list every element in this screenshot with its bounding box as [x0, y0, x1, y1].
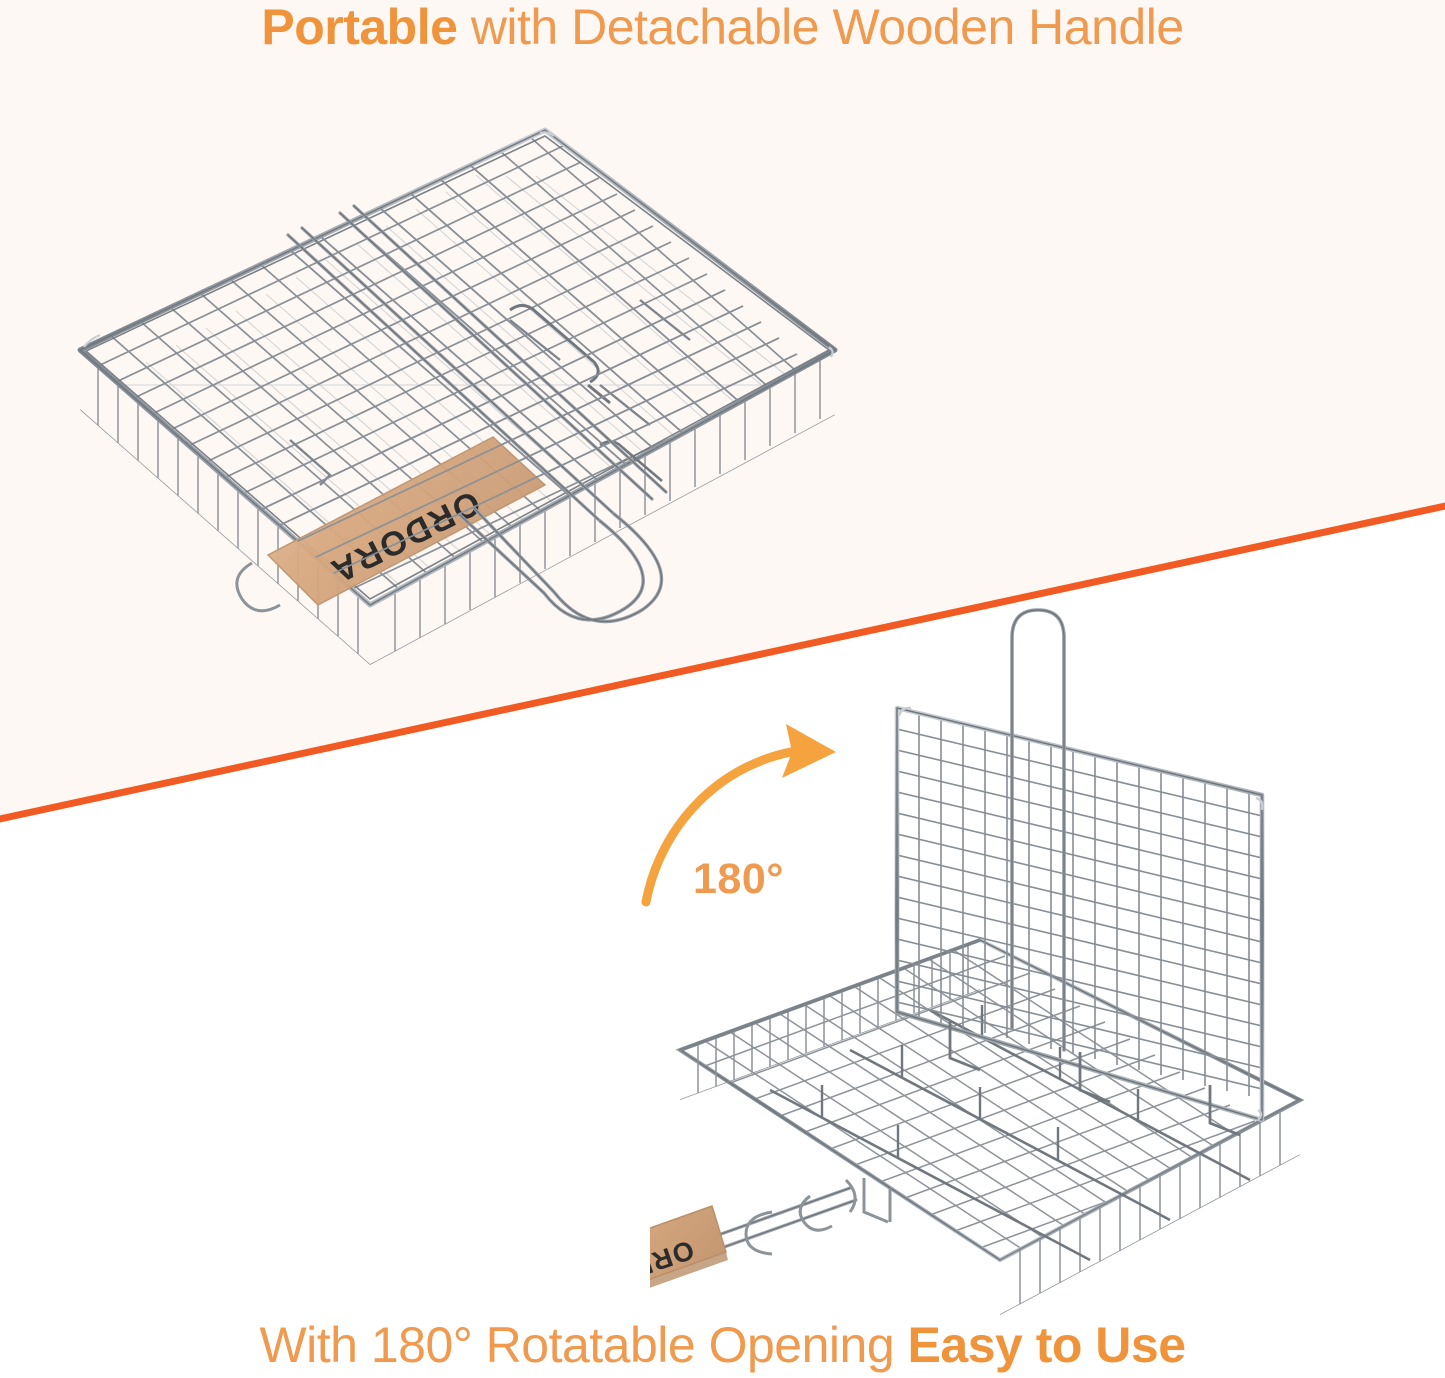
bottom-headline-bold: Easy to Use	[908, 1317, 1186, 1373]
bottom-headline-regular: With 180° Rotatable Opening	[259, 1317, 907, 1373]
bottom-headline: With 180° Rotatable Opening Easy to Use	[0, 1316, 1445, 1374]
top-headline: Portable with Detachable Wooden Handle	[0, 0, 1445, 56]
top-headline-rest: with Detachable Wooden Handle	[457, 0, 1183, 55]
top-headline-bold: Portable	[261, 0, 457, 55]
rotation-degree-label: 180°	[693, 855, 784, 904]
product-marketing-image: ORDORA	[0, 0, 1445, 1378]
